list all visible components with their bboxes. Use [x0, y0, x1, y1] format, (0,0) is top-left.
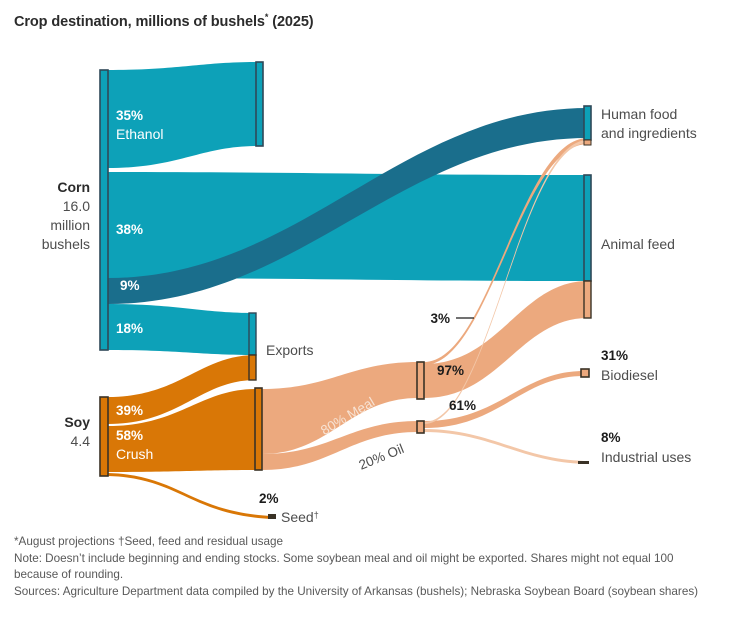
node-industrial[interactable] — [578, 461, 589, 464]
label-animal-feed: Animal feed — [601, 236, 675, 252]
node-crush[interactable] — [255, 388, 262, 470]
footnote-sources: Sources: Agriculture Department data com… — [14, 584, 720, 601]
node-human-food[interactable] — [584, 106, 591, 140]
node-animal-feed[interactable] — [584, 175, 591, 281]
label-soy-crush-pct: 58% — [116, 428, 143, 443]
node-ethanol[interactable] — [256, 62, 263, 146]
node-exports-soy[interactable] — [249, 355, 256, 380]
label-corn-humanfood-pct: 9% — [120, 278, 140, 293]
label-soy-exports-pct: 39% — [116, 403, 143, 418]
label-corn-feed-pct: 38% — [116, 222, 143, 237]
node-biodiesel[interactable] — [581, 369, 589, 377]
label-industrial: Industrial uses — [601, 449, 691, 465]
footnote-note: Note: Doesn’t include beginning and endi… — [14, 551, 720, 584]
label-oil-bio-pct: 61% — [449, 398, 476, 413]
node-animal-feed-meal[interactable] — [584, 281, 591, 318]
source-value-soy: 4.4 — [71, 433, 91, 449]
node-exports-corn[interactable] — [249, 313, 256, 355]
label-human-food-2: and ingredients — [601, 125, 697, 141]
label-seed-marker: † — [314, 510, 319, 520]
label-human-food-1: Human food — [601, 106, 677, 122]
source-unit-corn-2: bushels — [42, 236, 90, 252]
flow-soy-seed — [108, 473, 272, 519]
flow-meal-animal-feed — [424, 281, 588, 398]
source-label-soy: Soy — [64, 414, 90, 430]
label-seed-pct: 2% — [259, 491, 279, 506]
node-oil[interactable] — [417, 421, 424, 433]
label-soy-crush: Crush — [116, 446, 153, 462]
label-ethanol-pct: 35% — [116, 108, 143, 123]
label-ethanol: Ethanol — [116, 126, 163, 142]
label-biodiesel: Biodiesel — [601, 367, 658, 383]
node-human-food-oil[interactable] — [584, 140, 591, 145]
flow-oil-industrial — [424, 429, 584, 464]
label-industrial-pct: 8% — [601, 430, 621, 445]
node-corn[interactable] — [100, 70, 108, 350]
label-seed: Seed† — [281, 509, 319, 525]
footnotes: *August projections †Seed, feed and resi… — [14, 534, 720, 600]
source-value-corn: 16.0 — [63, 198, 90, 214]
sankey-chart: Crop destination, millions of bushels* (… — [0, 0, 734, 633]
node-seed[interactable] — [268, 514, 276, 519]
label-exports: Exports — [266, 342, 313, 358]
label-biodiesel-pct: 31% — [601, 348, 628, 363]
footnote-markers: *August projections †Seed, feed and resi… — [14, 534, 720, 551]
label-corn-exports-pct: 18% — [116, 321, 143, 336]
node-meal[interactable] — [417, 362, 424, 399]
source-unit-corn-1: million — [50, 217, 90, 233]
node-soy[interactable] — [100, 397, 108, 476]
label-meal-feed-pct: 97% — [437, 363, 464, 378]
label-oil-flow: 20% Oil — [357, 441, 406, 473]
source-label-corn: Corn — [57, 179, 90, 195]
label-seed-text: Seed — [281, 509, 314, 525]
label-meal-human-pct: 3% — [430, 311, 450, 326]
